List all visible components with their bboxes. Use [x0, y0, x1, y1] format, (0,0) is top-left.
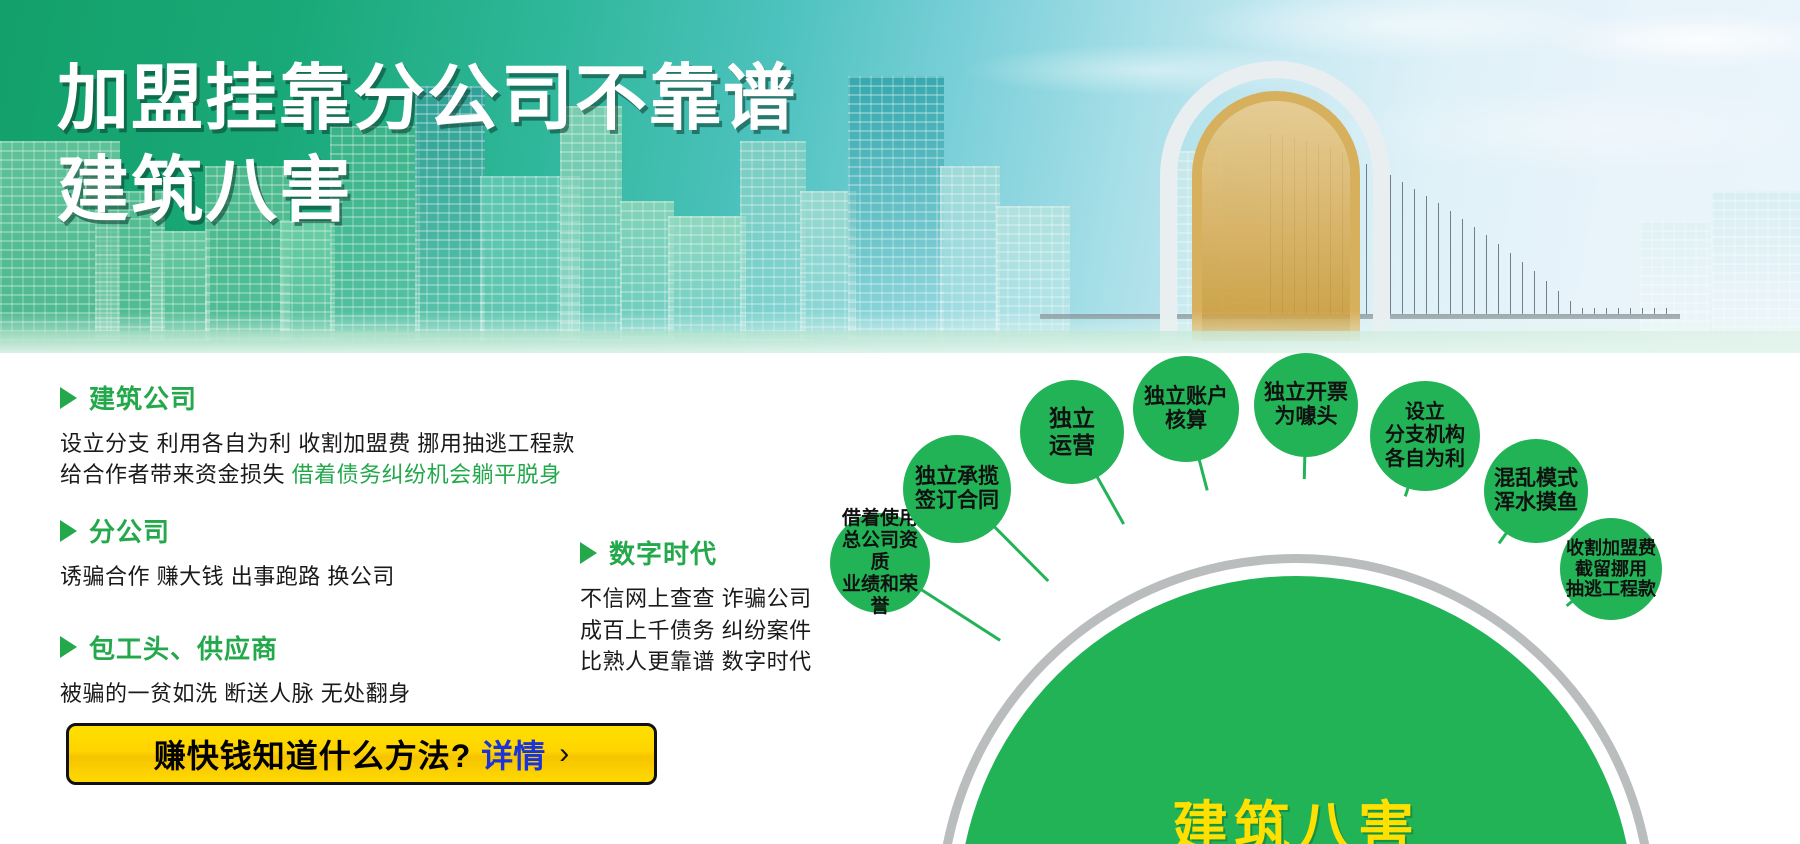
cta-button[interactable]: 赚快钱知道什么方法? 详情 › [66, 723, 657, 785]
bubble-use-hq-credentials[interactable]: 借着使用总公司资质业绩和荣誉 [830, 513, 930, 613]
section-header: 建筑公司 [60, 379, 830, 416]
bubble-text: 独立开票为噱头 [1264, 381, 1348, 430]
bubble-collect-franchise-fee[interactable]: 收割加盟费截留挪用抽逃工程款 [1560, 518, 1662, 620]
bubble-text: 设立分支机构各自为利 [1385, 401, 1465, 471]
bridge-cable [1522, 262, 1523, 314]
triangle-bullet-icon [60, 387, 77, 409]
bubble-text: 混乱模式浑水摸鱼 [1494, 467, 1578, 516]
bridge-cable [1474, 227, 1475, 314]
two-column-block: 分公司 诱骗合作 赚大钱 出事跑路 换公司 包工头、供应商 被骗的一贫如洗 断送… [60, 512, 830, 708]
bubble-stem [1096, 476, 1123, 524]
bridge-cable [1438, 203, 1439, 314]
triangle-bullet-icon [60, 520, 77, 542]
left-column: 建筑公司 设立分支 利用各自为利 收割加盟费 挪用抽逃工程款 给合作者带来资金损… [60, 379, 830, 715]
bubble-set-branch-self-interest[interactable]: 设立分支机构各自为利 [1370, 381, 1480, 491]
section-line: 被骗的一贫如洗 断送人脉 无处翻身 [60, 678, 830, 709]
cta-link-text[interactable]: 详情 [481, 731, 545, 777]
poster-page: 加盟挂靠分公司不靠谱 建筑八害 建筑公司 设立分支 利用各自为利 收割加盟费 挪… [0, 0, 1800, 844]
bridge-cable [1462, 219, 1463, 314]
section-title: 分公司 [89, 512, 170, 549]
bridge-cable [1414, 189, 1415, 314]
bubble-stem [1304, 455, 1305, 479]
bubble-stem [994, 526, 1049, 581]
hero-title-line1: 加盟挂靠分公司不靠谱 [57, 58, 797, 142]
bridge-cable [1498, 244, 1499, 314]
section-line: 设立分支 利用各自为利 收割加盟费 挪用抽逃工程款 [60, 428, 830, 459]
dome-diagram: 建筑八害 借着使用总公司资质业绩和荣誉独立承揽签订合同独立运营独立账户核算独立开… [830, 353, 1770, 833]
bridge-cable [1450, 211, 1451, 314]
bridge-cable [1546, 281, 1547, 314]
bridge-cable [1486, 235, 1487, 314]
bridge-cable [1510, 253, 1511, 314]
building [848, 76, 944, 341]
section-line: 给合作者带来资金损失 借着债务纠纷机会躺平脱身 [60, 459, 830, 490]
section-line-highlight: 借着债务纠纷机会躺平脱身 [292, 462, 562, 487]
bubble-chaos-fishing[interactable]: 混乱模式浑水摸鱼 [1484, 439, 1588, 543]
section-title: 包工头、供应商 [89, 629, 278, 666]
bubble-stem [1199, 458, 1207, 490]
bridge-cable [1426, 196, 1427, 314]
dome-label: 建筑八害 [958, 783, 1634, 844]
bubble-independent-account[interactable]: 独立账户核算 [1133, 356, 1239, 462]
bubble-text: 借着使用总公司资质业绩和荣誉 [834, 508, 926, 618]
bubble-stem [920, 589, 1000, 640]
section-line-text: 给合作者带来资金损失 [60, 462, 292, 487]
bridge-arch-inner [1192, 91, 1360, 341]
building-windows [848, 76, 944, 341]
bubble-text: 收割加盟费截留挪用抽逃工程款 [1566, 538, 1656, 601]
bubble-independent-invoice[interactable]: 独立开票为噱头 [1254, 353, 1358, 457]
bubble-text: 独立承揽签订合同 [915, 465, 999, 514]
bubble-independent-operation[interactable]: 独立运营 [1020, 380, 1124, 484]
bubble-text: 独立运营 [1049, 405, 1095, 458]
section-title: 建筑公司 [89, 379, 197, 416]
bridge-illustration [1040, 41, 1680, 341]
triangle-bullet-icon [580, 542, 597, 564]
hero-title: 加盟挂靠分公司不靠谱 建筑八害 [57, 58, 797, 233]
cta-main-text: 赚快钱知道什么方法? [154, 731, 472, 777]
hero-title-line2: 建筑八害 [57, 150, 797, 234]
section-title: 数字时代 [609, 534, 717, 571]
bridge-cable [1390, 175, 1391, 314]
bridge-cable [1534, 271, 1535, 314]
hero-banner: 加盟挂靠分公司不靠谱 建筑八害 [0, 0, 1800, 371]
chevron-right-icon: › [559, 737, 569, 771]
bubble-text: 独立账户核算 [1144, 385, 1228, 434]
section-construction-company: 建筑公司 设立分支 利用各自为利 收割加盟费 挪用抽逃工程款 给合作者带来资金损… [60, 379, 830, 490]
triangle-bullet-icon [60, 636, 77, 658]
content-area: 建筑公司 设立分支 利用各自为利 收割加盟费 挪用抽逃工程款 给合作者带来资金损… [0, 371, 1800, 844]
bridge-cable [1402, 182, 1403, 314]
bubble-independent-contract[interactable]: 独立承揽签订合同 [903, 435, 1011, 543]
